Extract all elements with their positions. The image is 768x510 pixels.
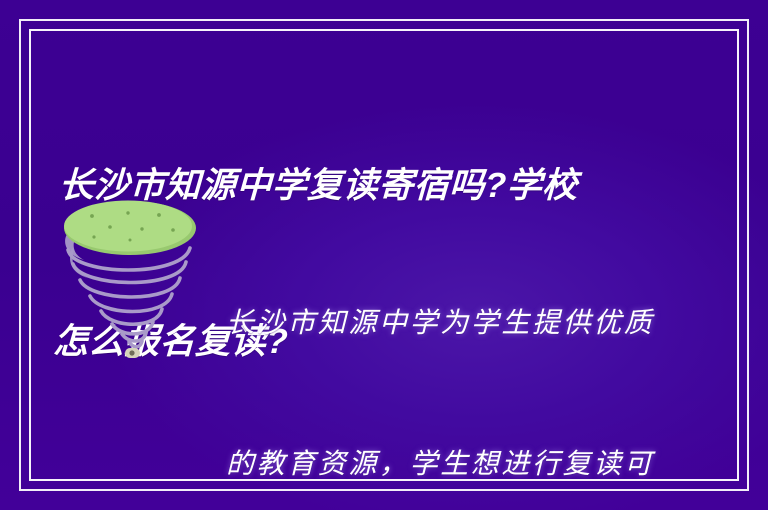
tornado-spiral-bands: [68, 248, 190, 347]
poster-canvas: 长沙市知源中学复读寄宿吗?学校 怎么报名复读?: [0, 0, 768, 510]
body-paragraph: 长沙市知源中学为学生提供优质 的教育资源，学生想进行复读可 以选择寄宿服务。学生…: [226, 206, 671, 510]
tornado-disc: [64, 201, 192, 252]
body-line-2: 的教育资源，学生想进行复读可: [226, 441, 671, 488]
body-line-1: 长沙市知源中学为学生提供优质: [226, 300, 671, 347]
tornado-tip-dot: [129, 350, 134, 355]
tornado-illustration: [44, 192, 214, 367]
